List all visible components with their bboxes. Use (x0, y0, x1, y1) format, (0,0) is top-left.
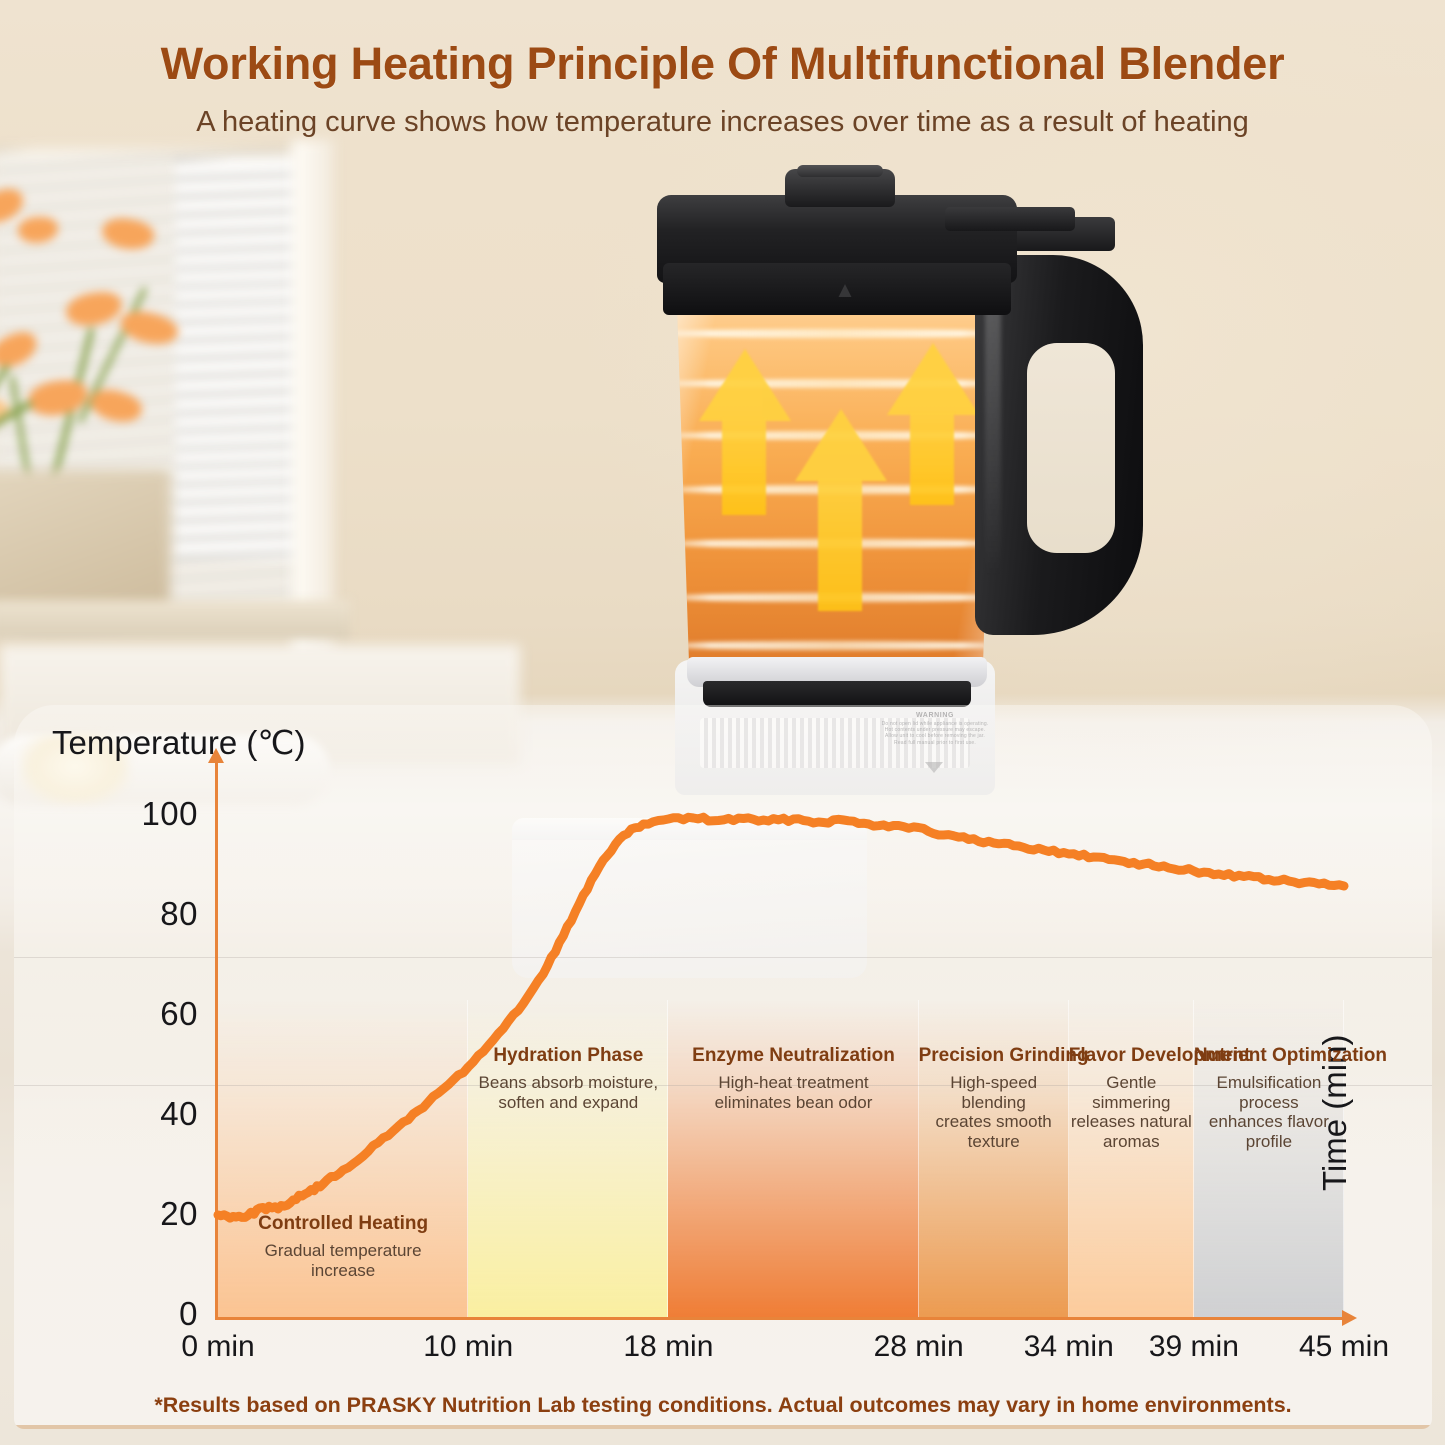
page-title: Working Heating Principle Of Multifuncti… (0, 38, 1445, 90)
phase-description-line: Gentle simmering (1069, 1073, 1194, 1112)
phase-description: High-heat treatmenteliminates bean odor (668, 1073, 918, 1112)
x-tick-label: 45 min (1264, 1330, 1424, 1364)
phase-description-line: Emulsification process (1194, 1073, 1344, 1112)
phase-description: Beans absorb moisture,soften and expand (468, 1073, 668, 1112)
phase-description: High-speed blendingcreates smooth textur… (919, 1073, 1069, 1151)
phase-title: Nutrient Optimization (1194, 1045, 1344, 1067)
phase-description-line: soften and expand (468, 1093, 668, 1113)
phase-description-line: creates smooth texture (919, 1112, 1069, 1151)
phase-title: Precision Grinding (919, 1045, 1069, 1067)
phase-description-line: increase (218, 1261, 468, 1281)
phase-description-line: Beans absorb moisture, (468, 1073, 668, 1093)
panel-bottom-rule (14, 1425, 1432, 1429)
x-tick-label: 18 min (588, 1330, 748, 1364)
phase-description-line: releases natural aromas (1069, 1112, 1194, 1151)
phase-description: Gradual temperatureincrease (218, 1241, 468, 1280)
phase-label: Hydration PhaseBeans absorb moisture,sof… (468, 1045, 668, 1112)
heating-curve-chart-panel: Temperature (℃) Time (min) 020406080100 … (14, 705, 1432, 1429)
page-subtitle: A heating curve shows how temperature in… (0, 106, 1445, 139)
handle-highlight (985, 277, 1001, 577)
phase-title: Controlled Heating (218, 1213, 468, 1235)
steam-vent-icon: ▲ (833, 273, 857, 307)
window-frame (292, 140, 334, 660)
phase-label: Precision GrindingHigh-speed blendingcre… (919, 1045, 1069, 1151)
phase-description: Emulsification processenhances flavor pr… (1194, 1073, 1344, 1151)
window-sill (0, 600, 350, 640)
multifunctional-blender: ▲ (645, 165, 1145, 785)
phase-description-line: High-speed blending (919, 1073, 1069, 1112)
chart-plot-area: Temperature (℃) Time (min) 020406080100 … (14, 705, 1432, 1429)
phase-label: Nutrient OptimizationEmulsification proc… (1194, 1045, 1344, 1151)
phase-description-line: eliminates bean odor (668, 1093, 918, 1113)
phase-label: Flavor DevelopmentGentle simmeringreleas… (1069, 1045, 1194, 1151)
x-tick-label: 0 min (138, 1330, 298, 1364)
lid-tab (945, 207, 1075, 231)
x-tick-label: 39 min (1114, 1330, 1274, 1364)
x-tick-label: 28 min (839, 1330, 999, 1364)
flower-pot (0, 470, 170, 620)
jar-foot (703, 681, 971, 707)
chart-footnote: *Results based on PRASKY Nutrition Lab t… (14, 1393, 1432, 1418)
phase-title: Enzyme Neutralization (668, 1045, 918, 1067)
phase-description-line: Gradual temperature (218, 1241, 468, 1261)
lid-knob-top (797, 165, 883, 177)
phase-description-line: High-heat treatment (668, 1073, 918, 1093)
phase-title: Flavor Development (1069, 1045, 1194, 1067)
phase-title: Hydration Phase (468, 1045, 668, 1067)
handle-opening (1027, 343, 1115, 553)
x-tick-label: 10 min (388, 1330, 548, 1364)
phase-label: Enzyme NeutralizationHigh-heat treatment… (668, 1045, 918, 1112)
phase-label: Controlled HeatingGradual temperatureinc… (218, 1213, 468, 1280)
header: Working Heating Principle Of Multifuncti… (0, 0, 1445, 139)
phase-description: Gentle simmeringreleases natural aromas (1069, 1073, 1194, 1151)
phase-description-line: enhances flavor profile (1194, 1112, 1344, 1151)
